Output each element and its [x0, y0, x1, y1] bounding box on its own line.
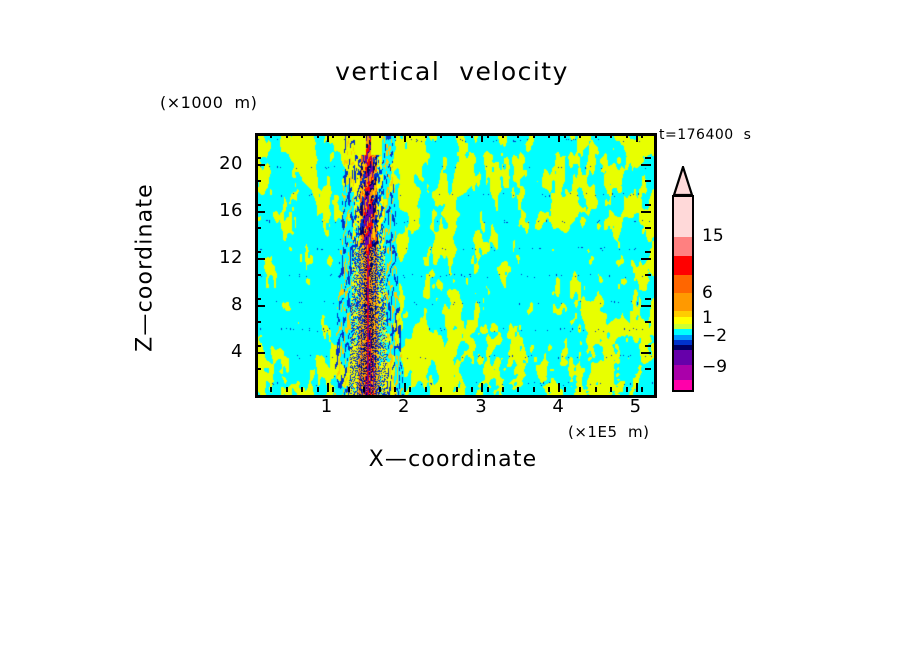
x-minor-tick-top — [456, 133, 458, 138]
x-minor-tick — [487, 387, 489, 392]
x-minor-tick — [425, 387, 427, 392]
y-minor-tick-right — [645, 274, 651, 276]
colorbar-bands — [672, 195, 694, 392]
x-minor-tick-top — [610, 133, 612, 138]
x-minor-tick — [379, 387, 381, 392]
y-tick-label: 4 — [203, 341, 243, 362]
time-annotation: t=176400 s — [659, 127, 751, 143]
x-minor-tick-top — [409, 133, 411, 138]
x-minor-tick-top — [348, 133, 350, 138]
y-major-tick — [255, 305, 265, 307]
x-major-tick-top — [481, 133, 483, 142]
x-minor-tick — [363, 387, 365, 392]
y-major-tick-right — [641, 258, 651, 260]
x-tick-label: 2 — [384, 396, 424, 417]
y-major-tick-right — [641, 211, 651, 213]
x-minor-tick — [456, 387, 458, 392]
x-minor-tick — [471, 387, 473, 392]
x-major-tick-top — [558, 133, 560, 142]
figure-root: vertical velocity (×1000 m) t=176400 s (… — [0, 0, 904, 654]
x-axis-unit-label: (×1E5 m) — [568, 423, 650, 441]
colorbar-tick-label: 15 — [702, 226, 724, 246]
y-minor-tick — [255, 274, 261, 276]
colorbar-band — [674, 365, 692, 379]
x-minor-tick-top — [286, 133, 288, 138]
x-minor-tick — [409, 387, 411, 392]
y-major-tick-right — [641, 164, 651, 166]
x-major-tick-top — [404, 133, 406, 142]
x-minor-tick-top — [394, 133, 396, 138]
y-major-tick — [255, 211, 265, 213]
x-minor-tick — [270, 387, 272, 392]
y-minor-tick — [255, 180, 261, 182]
x-tick-label: 4 — [538, 396, 578, 417]
x-major-tick — [558, 383, 560, 392]
x-minor-tick-top — [363, 133, 365, 138]
y-minor-tick-right — [645, 251, 651, 253]
y-minor-tick — [255, 227, 261, 229]
x-minor-tick — [332, 387, 334, 392]
x-minor-tick-top — [301, 133, 303, 138]
y-minor-tick — [255, 345, 261, 347]
page-title: vertical velocity — [0, 57, 904, 86]
y-minor-tick-right — [645, 204, 651, 206]
colorbar-arrow-cap-icon — [672, 166, 694, 196]
y-minor-tick — [255, 204, 261, 206]
x-tick-label: 5 — [616, 396, 656, 417]
vertical-velocity-field — [258, 136, 654, 395]
x-minor-tick-top — [332, 133, 334, 138]
colorbar-tick-label: 1 — [702, 308, 713, 328]
x-minor-tick — [548, 387, 550, 392]
y-minor-tick — [255, 368, 261, 370]
colorbar-band — [674, 293, 692, 311]
colorbar-band — [674, 256, 692, 275]
x-minor-tick-top — [270, 133, 272, 138]
colorbar-band — [674, 197, 692, 237]
x-major-tick — [404, 383, 406, 392]
y-minor-tick-right — [645, 227, 651, 229]
y-major-tick — [255, 258, 265, 260]
x-minor-tick — [286, 387, 288, 392]
x-minor-tick — [626, 387, 628, 392]
colorbar-tick-label: −9 — [702, 357, 727, 377]
colorbar[interactable]: 1561−2−9 — [666, 166, 786, 398]
x-minor-tick-top — [641, 133, 643, 138]
x-minor-tick-top — [517, 133, 519, 138]
y-minor-tick-right — [645, 368, 651, 370]
y-minor-tick — [255, 298, 261, 300]
y-minor-tick — [255, 251, 261, 253]
x-minor-tick-top — [317, 133, 319, 138]
colorbar-tick-label: −2 — [702, 326, 727, 346]
x-major-tick — [636, 383, 638, 392]
x-minor-tick — [502, 387, 504, 392]
x-minor-tick-top — [579, 133, 581, 138]
x-minor-tick-top — [471, 133, 473, 138]
y-tick-label: 16 — [203, 200, 243, 221]
y-minor-tick — [255, 321, 261, 323]
y-minor-tick-right — [645, 345, 651, 347]
y-minor-tick-right — [645, 298, 651, 300]
x-minor-tick — [595, 387, 597, 392]
x-minor-tick — [440, 387, 442, 392]
x-major-tick — [481, 383, 483, 392]
x-minor-tick — [641, 387, 643, 392]
y-minor-tick-right — [645, 157, 651, 159]
x-minor-tick-top — [595, 133, 597, 138]
colorbar-band — [674, 350, 692, 365]
y-major-tick — [255, 352, 265, 354]
z-axis-unit-label: (×1000 m) — [160, 93, 257, 112]
colorbar-band — [674, 311, 692, 318]
y-tick-label: 12 — [203, 247, 243, 268]
x-minor-tick-top — [626, 133, 628, 138]
y-major-tick — [255, 164, 265, 166]
x-minor-tick-top — [379, 133, 381, 138]
x-minor-tick — [564, 387, 566, 392]
y-tick-label: 20 — [203, 153, 243, 174]
colorbar-band — [674, 275, 692, 293]
colorbar-tick-label: 6 — [702, 283, 713, 303]
x-major-tick — [327, 383, 329, 392]
colorbar-band — [674, 317, 692, 324]
y-minor-tick-right — [645, 180, 651, 182]
y-minor-tick — [255, 157, 261, 159]
x-minor-tick — [317, 387, 319, 392]
colorbar-band — [674, 380, 692, 390]
x-minor-tick-top — [502, 133, 504, 138]
y-tick-label: 8 — [203, 294, 243, 315]
x-tick-label: 3 — [461, 396, 501, 417]
x-minor-tick-top — [425, 133, 427, 138]
y-major-tick-right — [641, 352, 651, 354]
x-minor-tick — [348, 387, 350, 392]
x-minor-tick-top — [548, 133, 550, 138]
x-minor-tick — [394, 387, 396, 392]
x-minor-tick-top — [487, 133, 489, 138]
x-minor-tick — [610, 387, 612, 392]
x-minor-tick — [517, 387, 519, 392]
y-axis-title: Z—coordinate — [133, 138, 158, 398]
x-tick-label: 1 — [307, 396, 347, 417]
colorbar-band — [674, 237, 692, 256]
x-minor-tick — [301, 387, 303, 392]
x-minor-tick-top — [440, 133, 442, 138]
x-major-tick-top — [636, 133, 638, 142]
x-minor-tick-top — [564, 133, 566, 138]
contour-plot-area[interactable] — [255, 133, 657, 398]
x-minor-tick-top — [533, 133, 535, 138]
y-major-tick-right — [641, 305, 651, 307]
x-minor-tick — [579, 387, 581, 392]
x-minor-tick — [533, 387, 535, 392]
x-axis-title: X—coordinate — [255, 447, 651, 472]
x-major-tick-top — [327, 133, 329, 142]
y-minor-tick-right — [645, 321, 651, 323]
